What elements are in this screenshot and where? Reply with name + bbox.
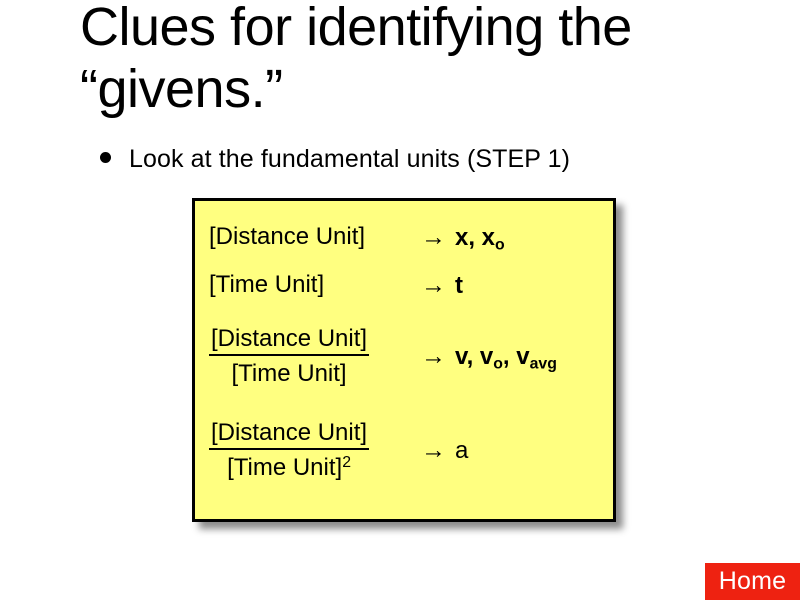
unit-expression-time: [Time Unit]: [209, 271, 324, 298]
bullet-list-item: Look at the fundamental units (STEP 1): [100, 144, 570, 174]
unit-variables-time: t: [455, 272, 463, 300]
units-row-list: [Distance Unit] → x, xo [Time Unit] → t …: [195, 201, 613, 519]
units-row: [Distance Unit] [Time Unit]2 → a: [209, 405, 613, 495]
unit-fraction-velocity: [Distance Unit] [Time Unit]: [209, 325, 369, 388]
unit-variables-position: x, xo: [455, 224, 505, 252]
units-row-right: → x, xo: [421, 223, 505, 252]
fraction-denominator: [Time Unit]2: [209, 450, 369, 482]
fraction-numerator: [Distance Unit]: [209, 419, 369, 450]
units-row-left: [Time Unit]: [209, 271, 421, 299]
unit-expression-distance: [Distance Unit]: [209, 223, 365, 250]
unit-fraction-acceleration: [Distance Unit] [Time Unit]2: [209, 419, 369, 482]
units-row: [Distance Unit] [Time Unit] → v, vo, vav…: [209, 311, 613, 401]
unit-variables-acceleration: a: [455, 437, 468, 465]
bullet-dot-icon: [100, 152, 111, 163]
units-row: [Distance Unit] → x, xo: [209, 215, 613, 259]
right-arrow-icon: →: [421, 271, 446, 300]
fraction-denominator: [Time Unit]: [209, 356, 369, 388]
units-row-right: → v, vo, vavg: [421, 342, 557, 371]
page-title: Clues for identifying the “givens.”: [80, 0, 780, 120]
units-row: [Time Unit] → t: [209, 263, 613, 307]
units-callout-box: [Distance Unit] → x, xo [Time Unit] → t …: [192, 198, 616, 522]
home-button[interactable]: Home: [705, 563, 800, 600]
units-row-right: → a: [421, 436, 468, 465]
unit-variables-velocity: v, vo, vavg: [455, 343, 557, 371]
bullet-item-label: Look at the fundamental units (STEP 1): [129, 144, 570, 174]
units-row-left: [Distance Unit] [Time Unit]2: [209, 419, 421, 482]
fraction-numerator: [Distance Unit]: [209, 325, 369, 356]
units-row-right: → t: [421, 271, 463, 300]
right-arrow-icon: →: [421, 436, 446, 465]
right-arrow-icon: →: [421, 223, 446, 252]
units-row-left: [Distance Unit] [Time Unit]: [209, 325, 421, 388]
units-row-left: [Distance Unit]: [209, 223, 421, 251]
right-arrow-icon: →: [421, 342, 446, 371]
